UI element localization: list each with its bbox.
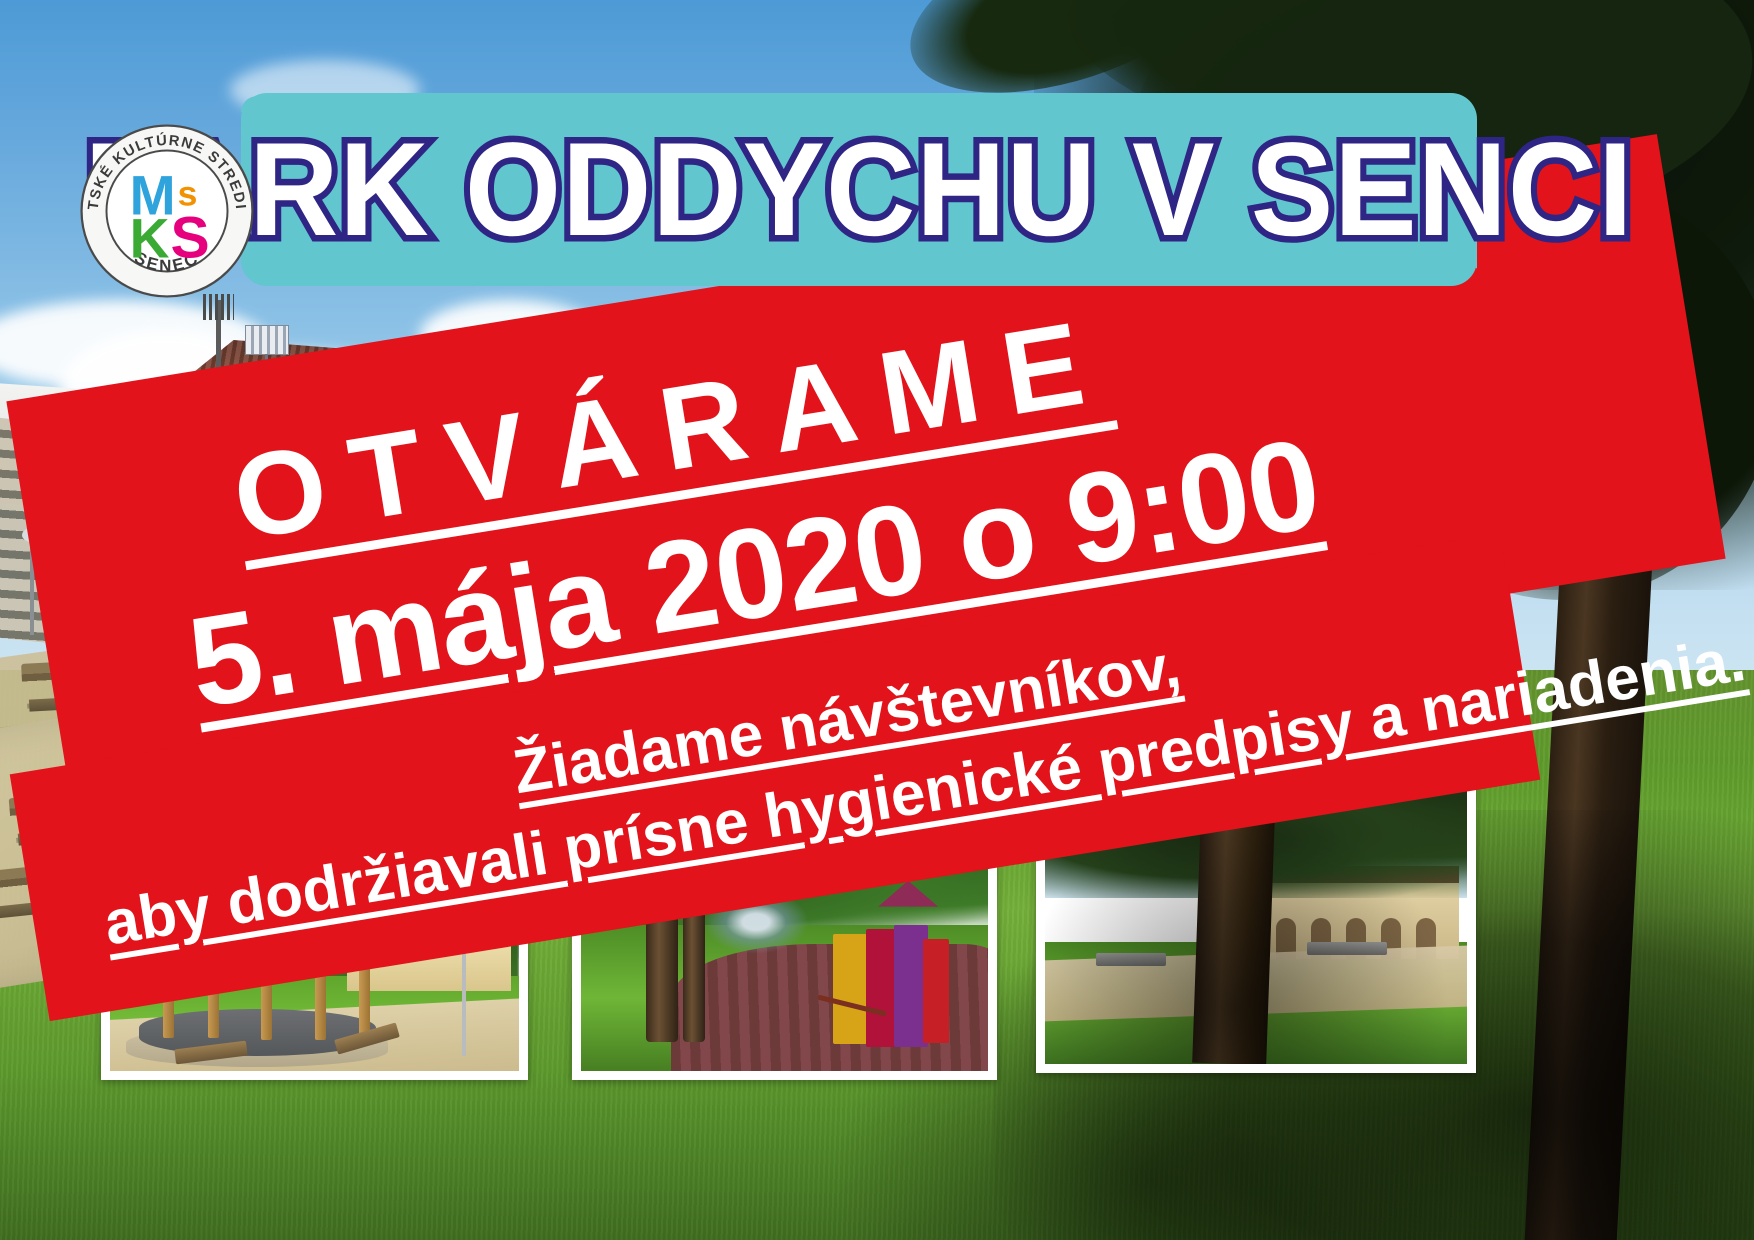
logo-letter-k: K (130, 207, 170, 269)
poster: MESTSKÉ KULTÚRNE STREDISKO SENEC M s K S… (0, 0, 1754, 1240)
logo-letter-s-large: S (171, 205, 210, 270)
msks-senec-logo: MESTSKÉ KULTÚRNE STREDISKO SENEC M s K S (78, 122, 256, 300)
stadium-floodlight (245, 325, 289, 355)
